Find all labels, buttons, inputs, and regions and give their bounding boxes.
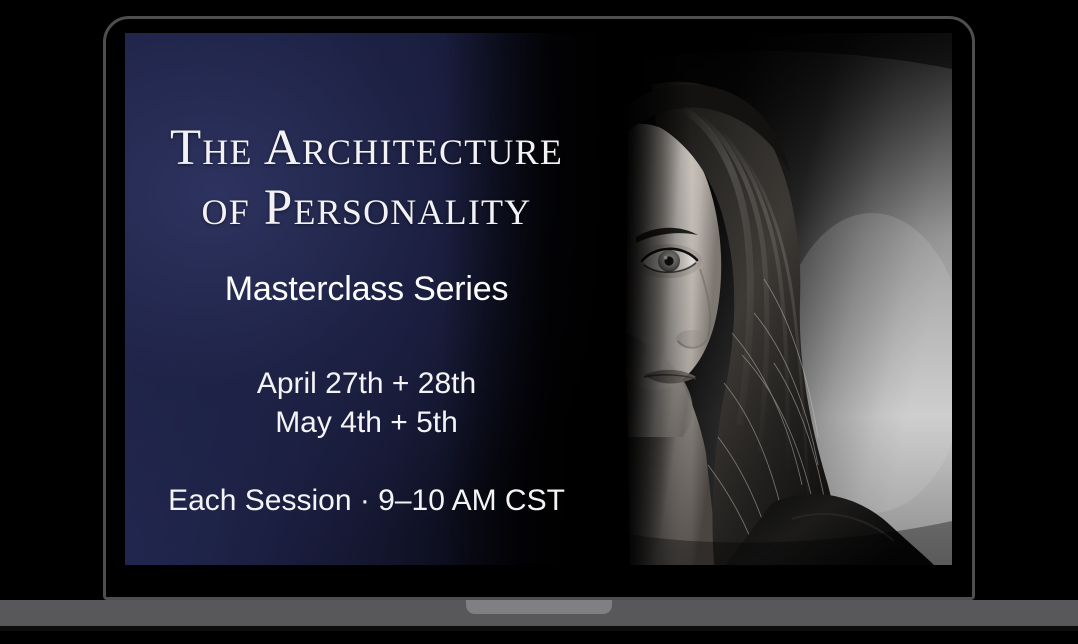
laptop-base-shadow xyxy=(0,626,1078,631)
slide-photo-panel xyxy=(622,33,952,565)
slide-title-line-2: of Personality xyxy=(144,179,589,239)
slide-subtitle: Masterclass Series xyxy=(144,270,589,309)
slide-date-line-2: May 4th + 5th xyxy=(144,404,589,442)
slide-text-panel: The Architecture of Personality Mastercl… xyxy=(125,33,622,565)
slide-dates: April 27th + 28th May 4th + 5th xyxy=(144,365,589,442)
slide-copy-block: The Architecture of Personality Mastercl… xyxy=(125,33,615,518)
slide-session-time: Each Session · 9–10 AM CST xyxy=(144,484,589,518)
slide-date-line-1: April 27th + 28th xyxy=(144,365,589,403)
slide-title: The Architecture of Personality xyxy=(144,119,589,238)
laptop-base-notch xyxy=(466,600,612,614)
slide-title-line-1: The Architecture xyxy=(144,119,589,179)
screenshot-canvas: The Architecture of Personality Mastercl… xyxy=(0,0,1078,644)
slide: The Architecture of Personality Mastercl… xyxy=(125,33,952,565)
laptop-screen: The Architecture of Personality Mastercl… xyxy=(125,33,952,565)
portrait-photo xyxy=(622,33,952,565)
